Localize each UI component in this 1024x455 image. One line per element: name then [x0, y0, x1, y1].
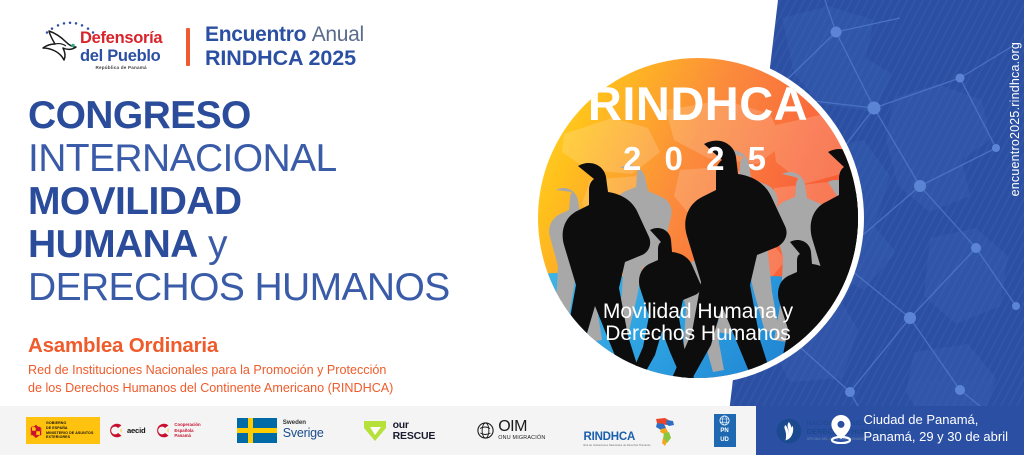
- headline-y: y: [208, 223, 227, 266]
- defensoria-line2: del Pueblo: [80, 48, 162, 65]
- oim-line2: ONU MIGRACIÓN: [498, 435, 545, 443]
- sponsor-logo-cooperacion-espanola[interactable]: Cooperación Española Panamá: [154, 422, 200, 439]
- defensoria-del-pueblo-logo[interactable]: Defensoría del Pueblo República de Panam…: [28, 18, 168, 76]
- oim-wordmark: OIM ONU MIGRACIÓN: [498, 419, 545, 443]
- location-line2: Panamá, 29 y 30 de abril: [863, 429, 1008, 446]
- subtitle-line1: Red de Instituciones Nacionales para la …: [28, 362, 393, 380]
- event-lockup-anual: Anual: [312, 23, 364, 46]
- location-text: Ciudad de Panamá, Panamá, 29 y 30 de abr…: [863, 412, 1008, 446]
- un-globe-icon: [714, 414, 736, 427]
- event-lockup-encuentro: Encuentro: [205, 23, 306, 46]
- event-lockup-line1: Encuentro Anual: [205, 24, 364, 45]
- our-rescue-wordmark: our RESCUE: [393, 420, 436, 442]
- cooperacion-line1: Cooperación: [174, 422, 200, 428]
- our-rescue-line2: RESCUE: [393, 431, 436, 442]
- rindhca-line1: RINDHCA: [583, 432, 650, 444]
- subtitle-line2: de los Derechos Humanos del Continente A…: [28, 380, 393, 398]
- emblem-tagline-line2: Derechos Humanos: [605, 322, 791, 345]
- aecid-c-mark-icon: [107, 422, 124, 439]
- spain-coat-of-arms-icon: [29, 420, 43, 442]
- headline-line-congreso: CONGRESO: [28, 96, 450, 135]
- sweden-wordmark: Sweden Sverige: [283, 420, 324, 441]
- defensoria-wordmark: Defensoría del Pueblo República de Panam…: [80, 30, 162, 71]
- rindhca-circular-emblem[interactable]: RINDHCA 2 0 2 5 Movilidad Humana y Derec…: [528, 48, 868, 388]
- cooperacion-line3: Panamá: [174, 433, 200, 439]
- gobierno-espana-badge: GOBIERNO DE ESPAÑA MINISTERIO DE ASUNTOS…: [26, 417, 100, 444]
- headline-humana: HUMANA: [28, 223, 198, 266]
- sponsor-logo-gobierno-espana[interactable]: GOBIERNO DE ESPAÑA MINISTERIO DE ASUNTOS…: [26, 414, 201, 448]
- dove-icon: [42, 28, 82, 62]
- sweden-line2: Sverige: [283, 427, 324, 441]
- oim-globe-icon: [477, 422, 494, 439]
- location-date-block: Ciudad de Panamá, Panamá, 29 y 30 de abr…: [828, 412, 1008, 446]
- emblem-tagline-line1: Movilidad Humana y: [603, 300, 794, 323]
- ohchr-emblem-icon: [776, 418, 802, 444]
- oim-line1: OIM: [498, 419, 545, 435]
- our-rescue-line1: our: [393, 420, 436, 431]
- subtitle-block: Asamblea Ordinaria Red de Instituciones …: [28, 334, 393, 398]
- sponsor-logo-our-rescue[interactable]: our RESCUE: [362, 414, 436, 448]
- sponsor-logo-aecid[interactable]: aecid: [107, 422, 145, 439]
- americas-map-icon: [652, 417, 676, 447]
- event-banner: encuentro2025.rindhca.org: [0, 0, 1024, 455]
- emblem-title: RINDHCA: [588, 77, 808, 130]
- event-lockup: Encuentro Anual RINDHCA 2025: [205, 24, 364, 69]
- header-logo-lockup: Defensoría del Pueblo República de Panam…: [28, 18, 364, 76]
- rindhca-line2: Red de Instituciones Nacionales de Derec…: [583, 445, 650, 448]
- orange-divider-bar: [186, 28, 190, 66]
- aecid-label: aecid: [127, 426, 145, 435]
- event-lockup-line2: RINDHCA 2025: [205, 48, 364, 70]
- sponsor-logo-rindhca[interactable]: RINDHCA Red de Instituciones Nacionales …: [583, 414, 675, 448]
- sponsor-logo-sweden[interactable]: Sweden Sverige: [237, 414, 324, 448]
- headline-line-derechos: DERECHOS HUMANOS: [28, 268, 450, 307]
- emblem-year: 2 0 2 5: [623, 140, 773, 177]
- defensoria-line3: República de Panamá: [80, 66, 162, 71]
- pnud-line2: UD: [714, 437, 736, 447]
- cooperacion-text: Cooperación Española Panamá: [174, 422, 200, 439]
- headline-line-movilidad: MOVILIDAD: [28, 182, 450, 221]
- gobierno-espana-text: GOBIERNO DE ESPAÑA MINISTERIO DE ASUNTOS…: [46, 421, 97, 440]
- website-url[interactable]: encuentro2025.rindhca.org: [1008, 42, 1022, 196]
- headline-line-internacional: INTERNACIONAL: [28, 139, 450, 178]
- headline-line-humana: HUMANA y: [28, 225, 450, 264]
- our-rescue-arrow-icon: [362, 418, 388, 444]
- defensoria-line1: Defensoría: [80, 30, 162, 47]
- sponsor-logo-strip: GOBIERNO DE ESPAÑA MINISTERIO DE ASUNTOS…: [0, 406, 756, 455]
- sponsor-logo-pnud[interactable]: PN UD: [714, 414, 736, 448]
- sweden-flag-icon: [237, 418, 277, 443]
- sponsor-logo-oim[interactable]: OIM ONU MIGRACIÓN: [477, 414, 545, 448]
- location-line1: Ciudad de Panamá,: [863, 412, 1008, 429]
- cooperacion-c-mark-icon: [154, 422, 171, 439]
- gobierno-line3: MINISTERIO DE ASUNTOS EXTERIORES: [46, 431, 97, 440]
- map-pin-icon: [828, 414, 854, 444]
- pnud-line1: PN: [714, 427, 736, 438]
- page-title: CONGRESO INTERNACIONAL MOVILIDAD HUMANA …: [28, 96, 450, 311]
- asamblea-ordinaria-title: Asamblea Ordinaria: [28, 334, 393, 358]
- rindhca-wordmark: RINDHCA Red de Instituciones Nacionales …: [583, 432, 650, 448]
